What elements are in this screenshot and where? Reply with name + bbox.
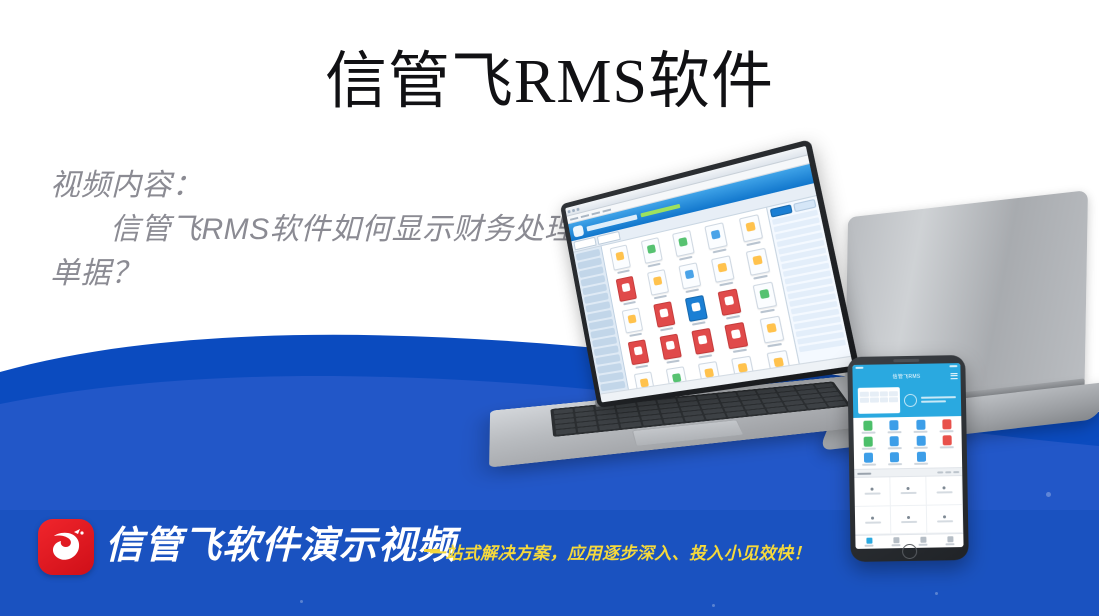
app-icon-tile[interactable]	[654, 333, 688, 365]
smartphone-foreground: 信管飞RMS	[847, 355, 969, 562]
app-icon-tile[interactable]	[667, 229, 701, 263]
phone-home-button[interactable]	[902, 544, 917, 559]
phone-feature-item[interactable]	[855, 420, 880, 433]
hamburger-menu-icon[interactable]	[951, 373, 958, 379]
phone-app-title: 信管飞RMS	[893, 373, 921, 380]
phone-feature-item[interactable]	[934, 435, 959, 448]
app-brand-badge	[640, 204, 680, 218]
phone-feature-item[interactable]	[908, 452, 933, 465]
app-icon-tile[interactable]	[747, 280, 784, 314]
phone-feature-item[interactable]	[882, 420, 907, 433]
app-icon-tile[interactable]	[740, 247, 777, 282]
slide-canvas: 信管飞RMS软件 视频内容： 信管飞RMS软件如何显示财务处理辅助单据？	[0, 0, 1099, 616]
app-logo-icon	[572, 224, 584, 237]
decorative-dot	[760, 557, 764, 561]
decorative-dot	[712, 604, 715, 607]
decorative-dot	[300, 600, 303, 603]
phone-stat-cell	[891, 505, 927, 534]
phone-feature-item	[935, 451, 960, 464]
app-icon-tile[interactable]	[611, 275, 643, 307]
app-icon-tile[interactable]	[719, 321, 755, 354]
phone-hero-banner	[853, 382, 962, 418]
app-icon-tile[interactable]	[642, 268, 675, 301]
app-icon-tile[interactable]	[617, 306, 649, 338]
phone-tab-profile[interactable]	[936, 534, 963, 547]
phone-feature-item[interactable]	[856, 436, 881, 449]
phone-hero-text	[921, 396, 956, 403]
phone-hero-badge-icon	[904, 393, 917, 406]
phone-stats-grid	[854, 476, 963, 535]
decorative-dot	[1046, 492, 1051, 497]
phone-feature-item[interactable]	[908, 420, 933, 433]
phone-earpiece	[893, 359, 919, 362]
app-icon-tile[interactable]	[635, 236, 668, 269]
phone-stat-cell	[890, 477, 926, 506]
app-icon-tile[interactable]	[623, 338, 655, 370]
app-icon-tile[interactable]	[605, 243, 637, 275]
laptop-foreground	[476, 196, 906, 506]
app-icon-tile[interactable]	[713, 287, 749, 321]
app-icon-tile[interactable]	[673, 261, 707, 294]
slide-title: 信管飞RMS软件	[0, 46, 1099, 118]
phone-feature-item[interactable]	[856, 452, 881, 465]
phone-stat-cell	[927, 505, 963, 534]
app-icon-tile[interactable]	[686, 327, 721, 360]
phone-feature-grid[interactable]	[853, 416, 962, 469]
bird-icon	[38, 519, 94, 575]
app-icon-tile[interactable]	[733, 213, 769, 248]
phone-screen: 信管飞RMS	[852, 363, 963, 549]
app-icon-grid[interactable]	[605, 213, 798, 389]
phone-stat-cell	[855, 506, 891, 535]
decorative-dot	[935, 592, 938, 595]
phone-hero-thumbnail	[858, 387, 900, 414]
phone-stat-cell	[926, 476, 962, 505]
device-photo-group: 信管飞RMS	[466, 196, 1099, 526]
phone-feature-item[interactable]	[934, 419, 959, 432]
phone-stat-cell	[854, 477, 890, 506]
phone-feature-item[interactable]	[882, 452, 907, 465]
brand-logo	[38, 519, 94, 575]
app-icon-tile[interactable]	[648, 300, 681, 332]
brand-title: 信管飞软件演示视频	[105, 520, 456, 572]
phone-tab-home[interactable]	[855, 535, 882, 548]
phone-feature-item[interactable]	[908, 436, 933, 449]
app-icon-tile[interactable]	[680, 294, 714, 327]
app-icon-tile[interactable]	[699, 221, 734, 255]
phone-app-header: 信管飞RMS	[852, 369, 960, 384]
brand-tagline: 一站式解决方案，应用逐步深入、投入小见效快！	[428, 539, 811, 564]
app-icon-tile[interactable]	[754, 315, 791, 349]
app-icon-tile[interactable]	[706, 254, 741, 288]
phone-feature-item[interactable]	[882, 436, 907, 449]
